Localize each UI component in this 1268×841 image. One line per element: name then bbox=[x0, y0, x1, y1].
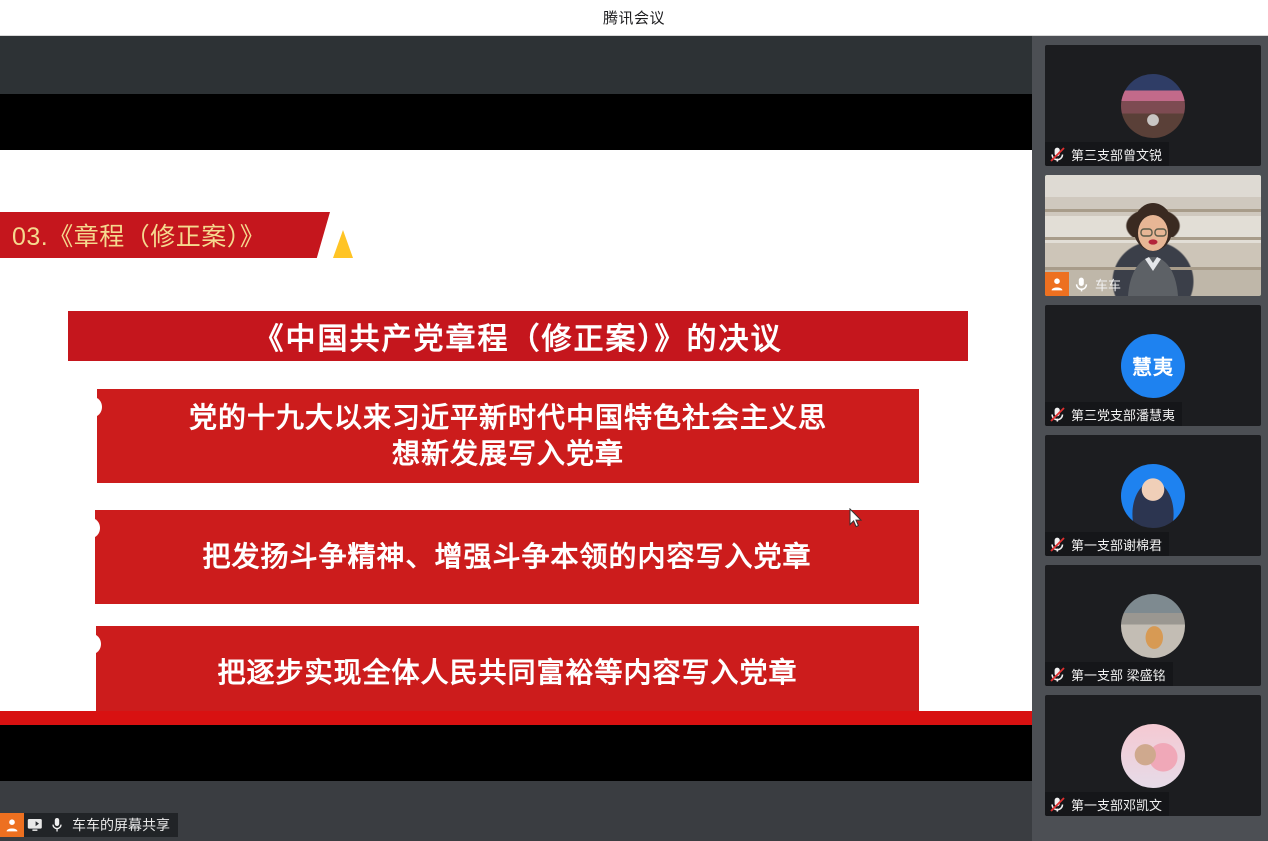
slide-section-title: 03.《章程（修正案）》 bbox=[0, 217, 265, 253]
participant-name: 第一支部谢棉君 bbox=[1069, 535, 1169, 554]
bullet-dot-icon bbox=[83, 634, 101, 654]
screen-share-icon bbox=[24, 813, 46, 837]
microphone-muted-icon bbox=[1045, 142, 1069, 166]
person-icon bbox=[1050, 277, 1064, 291]
host-badge bbox=[1045, 272, 1069, 296]
participant-tile[interactable]: 第三支部曾文锐 bbox=[1045, 45, 1261, 166]
app-title: 腾讯会议 bbox=[603, 7, 665, 28]
participant-tile[interactable]: 车车 bbox=[1045, 175, 1261, 296]
avatar-initials: 慧夷 bbox=[1121, 334, 1185, 398]
share-top-letterbox bbox=[0, 36, 1032, 94]
slide-title-ribbon: 《中国共产党章程（修正案）》的决议 bbox=[68, 311, 968, 361]
participant-label: 第一支部 梁盛铭 bbox=[1045, 662, 1173, 686]
participant-tile[interactable]: 第一支部谢棉君 bbox=[1045, 435, 1261, 556]
avatar-image bbox=[1121, 74, 1185, 138]
person-icon bbox=[5, 818, 19, 832]
participant-label: 第一支部邓凯文 bbox=[1045, 792, 1169, 816]
bullet-dot-icon bbox=[84, 397, 102, 417]
mouse-cursor-icon bbox=[849, 508, 863, 528]
share-black-band-top bbox=[0, 94, 1032, 150]
participant-name: 第一支部邓凯文 bbox=[1069, 795, 1169, 814]
slide-bullet-2: 把发扬斗争精神、增强斗争本领的内容写入党章 bbox=[95, 510, 919, 604]
participant-label: 第三支部曾文锐 bbox=[1045, 142, 1169, 166]
participant-video-figure bbox=[1122, 191, 1184, 296]
slide-bullet-1: 党的十九大以来习近平新时代中国特色社会主义思 想新发展写入党章 bbox=[97, 389, 919, 483]
microphone-icon bbox=[1069, 272, 1093, 296]
microphone-icon bbox=[46, 813, 68, 837]
participant-name: 第三支部曾文锐 bbox=[1069, 145, 1169, 164]
slide-bullet-3: 把逐步实现全体人民共同富裕等内容写入党章 bbox=[96, 626, 919, 720]
participant-name: 第三党支部潘慧夷 bbox=[1069, 405, 1182, 424]
presentation-slide: 03.《章程（修正案）》 《中国共产党章程（修正案）》的决议 党的十九大以来习近… bbox=[0, 150, 1032, 725]
slide-bullet-3-text: 把逐步实现全体人民共同富裕等内容写入党章 bbox=[177, 655, 837, 691]
triangle-accent-icon bbox=[333, 230, 353, 258]
participant-tile[interactable]: 慧夷 第三党支部潘慧夷 bbox=[1045, 305, 1261, 426]
slide-title-text: 《中国共产党章程（修正案）》的决议 bbox=[254, 314, 783, 358]
participant-sidebar[interactable]: 第三支部曾文锐 bbox=[1032, 36, 1268, 841]
tencent-meeting-window: 腾讯会议 03.《章程（修正案）》 《中国共产党章程（修正案）》的决议 党的十九… bbox=[0, 0, 1268, 841]
microphone-muted-icon bbox=[1045, 662, 1069, 686]
slide-section-banner: 03.《章程（修正案）》 bbox=[0, 212, 330, 258]
participant-name: 第一支部 梁盛铭 bbox=[1069, 665, 1173, 684]
microphone-muted-icon bbox=[1045, 532, 1069, 556]
participant-tile[interactable]: 第一支部邓凯文 bbox=[1045, 695, 1261, 816]
screen-share-presenter-name: 车车的屏幕共享 bbox=[68, 815, 178, 835]
avatar-image bbox=[1121, 594, 1185, 658]
microphone-muted-icon bbox=[1045, 792, 1069, 816]
avatar-image bbox=[1121, 724, 1185, 788]
microphone-muted-icon bbox=[1045, 402, 1069, 426]
window-titlebar: 腾讯会议 bbox=[0, 0, 1268, 36]
screen-share-presenter-label: 车车的屏幕共享 bbox=[0, 813, 178, 837]
participant-tile[interactable]: 第一支部 梁盛铭 bbox=[1045, 565, 1261, 686]
participant-label: 第三党支部潘慧夷 bbox=[1045, 402, 1182, 426]
participant-name: 车车 bbox=[1093, 275, 1128, 294]
participant-label: 车车 bbox=[1045, 272, 1128, 296]
slide-bullet-2-text: 把发扬斗争精神、增强斗争本领的内容写入党章 bbox=[162, 539, 851, 575]
host-badge bbox=[0, 813, 24, 837]
avatar-image bbox=[1121, 464, 1185, 528]
share-black-band-bottom bbox=[0, 725, 1032, 781]
slide-bullet-1-text: 党的十九大以来习近平新时代中国特色社会主义思 想新发展写入党章 bbox=[149, 400, 867, 472]
slide-bottom-rule bbox=[0, 711, 1032, 725]
participant-label: 第一支部谢棉君 bbox=[1045, 532, 1169, 556]
bullet-dot-icon bbox=[82, 518, 100, 538]
shared-screen-region[interactable]: 03.《章程（修正案）》 《中国共产党章程（修正案）》的决议 党的十九大以来习近… bbox=[0, 36, 1032, 841]
